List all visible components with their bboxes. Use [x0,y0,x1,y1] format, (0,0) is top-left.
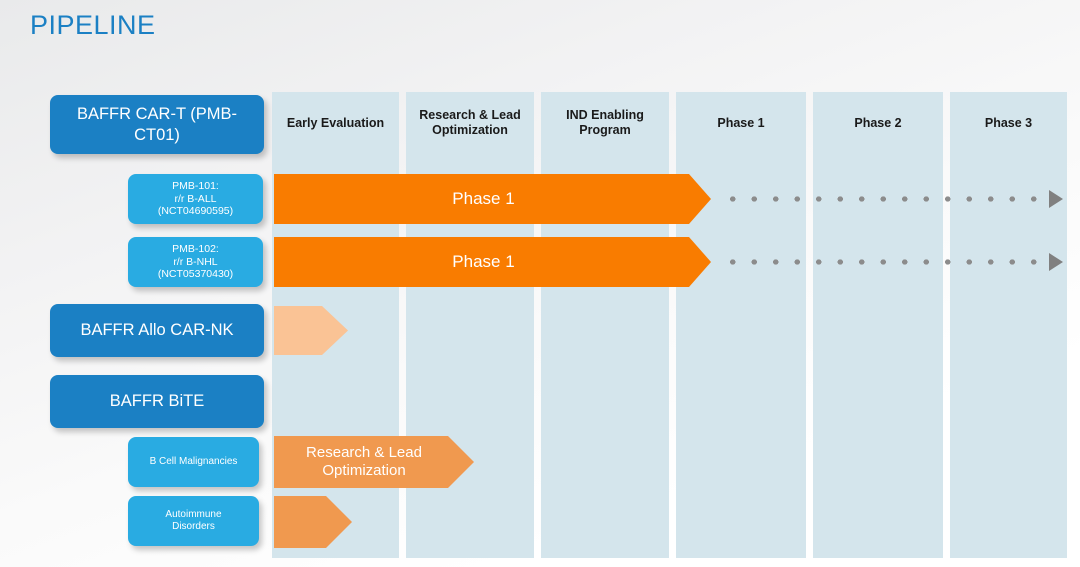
program-label-text: BAFFR Allo CAR-NK [80,320,233,340]
dotted-continuation-pmb-101 [722,195,1051,203]
stage-header-research-lead-optimization: Research & Lead Optimization [406,92,534,154]
indication-label-line-3: (NCT05370430) [158,268,233,280]
indication-label-line-2: r/r B-ALL [174,193,216,205]
stage-column-phase-1: Phase 1 [676,92,806,558]
stage-header-line-1: Research & Lead [419,108,520,122]
stage-header-phase-1: Phase 1 [676,92,806,154]
dotted-continuation-pmb-102 [722,258,1051,266]
indication-label-pmb-101[interactable]: PMB-101: r/r B-ALL (NCT04690595) [128,174,263,224]
stage-column-research-lead-optimization: Research & Lead Optimization [406,92,534,558]
indication-label-line-1: PMB-102: [172,243,219,255]
dotted-continuation-arrowhead-pmb-102 [1049,253,1063,271]
indication-label-line-3: (NCT04690595) [158,205,233,217]
progress-bar-b-cell-malignancies[interactable]: Research & Lead Optimization [274,436,474,488]
program-label-baffr-bite[interactable]: BAFFR BiTE [50,375,264,428]
progress-bar-pmb-101[interactable]: Phase 1 [274,174,711,224]
program-label-line-1: BAFFR CAR-T (PMB- [77,105,237,123]
progress-bar-label: Phase 1 [452,252,532,272]
stage-header-ind-enabling-program: IND Enabling Program [541,92,669,154]
progress-bar-label: Research & Lead Optimization [306,444,442,480]
indication-label-line-2: r/r B-NHL [173,256,217,268]
indication-label-line-2: Disorders [172,521,215,532]
page-title: PIPELINE [30,10,156,41]
progress-bar-pmb-102[interactable]: Phase 1 [274,237,711,287]
dotted-continuation-arrowhead-pmb-101 [1049,190,1063,208]
stage-header-line-2: Program [579,123,630,137]
stage-column-ind-enabling-program: IND Enabling Program [541,92,669,558]
indication-label-line-1: PMB-101: [172,180,219,192]
program-label-text: BAFFR BiTE [110,391,204,411]
progress-bar-label: Phase 1 [452,189,532,209]
stage-column-phase-2: Phase 2 [813,92,943,558]
program-label-baffr-allo-car-nk[interactable]: BAFFR Allo CAR-NK [50,304,264,357]
progress-bar-label-line-1: Research & Lead [306,444,422,461]
program-label-line-2: CT01) [134,126,180,144]
program-label-baffr-car-t[interactable]: BAFFR CAR-T (PMB- CT01) [50,95,264,154]
indication-label-b-cell-malignancies[interactable]: B Cell Malignancies [128,437,259,487]
indication-label-pmb-102[interactable]: PMB-102: r/r B-NHL (NCT05370430) [128,237,263,287]
stage-header-phase-2: Phase 2 [813,92,943,154]
progress-bar-label-line-2: Optimization [322,462,405,479]
stage-header-early-evaluation: Early Evaluation [272,92,399,154]
stage-columns: Early Evaluation Research & Lead Optimiz… [272,92,1067,558]
stage-header-line-2: Optimization [432,123,508,137]
indication-label-autoimmune-disorders[interactable]: Autoimmune Disorders [128,496,259,546]
stage-header-line-1: IND Enabling [566,108,644,122]
stage-column-phase-3: Phase 3 [950,92,1067,558]
indication-label-line-1: Autoimmune [165,509,221,520]
stage-header-phase-3: Phase 3 [950,92,1067,154]
indication-label-text: B Cell Malignancies [150,456,238,468]
